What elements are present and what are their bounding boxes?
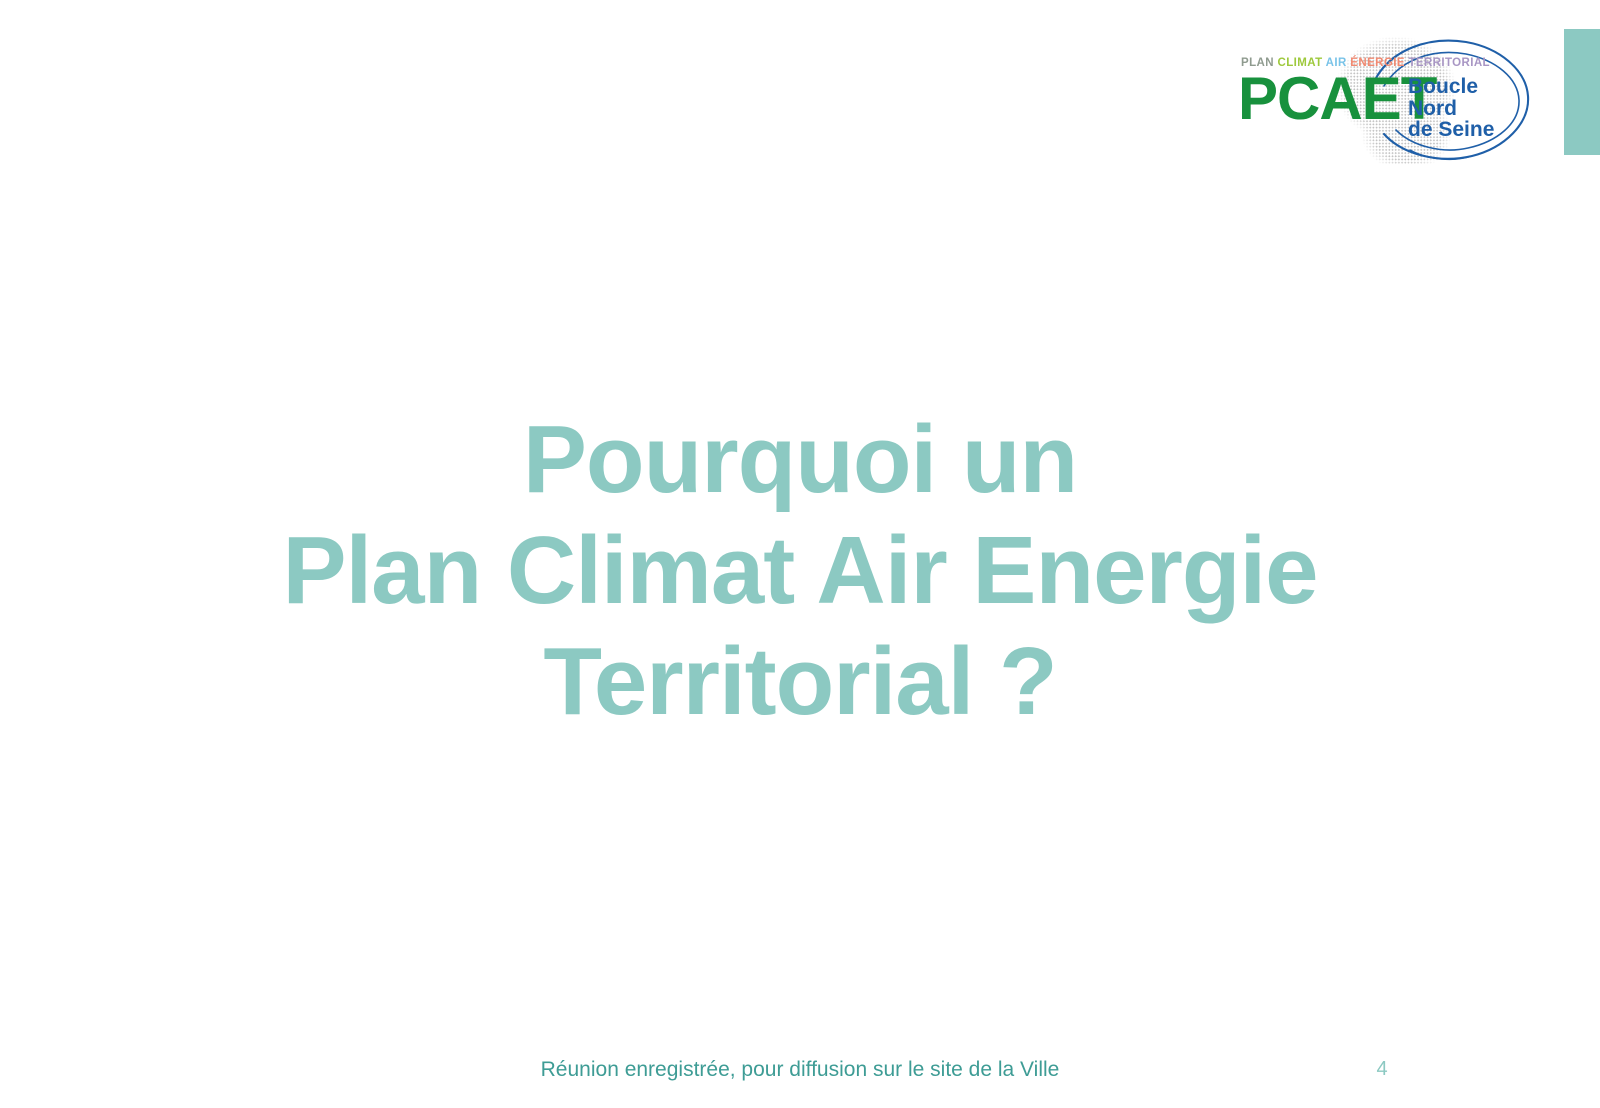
page-number: 4: [1352, 1058, 1412, 1081]
accent-bar: [1564, 29, 1600, 155]
slide-canvas: PLAN CLIMAT AIR ÉNERGIE TERRITORIAL PCAE…: [0, 0, 1600, 1108]
logo-partner-line-3: de Seine: [1408, 119, 1494, 141]
title-line-1: Pourquoi un: [0, 404, 1600, 515]
logo-partner-line-1: Boucle: [1408, 76, 1494, 98]
logo-block: PLAN CLIMAT AIR ÉNERGIE TERRITORIAL PCAE…: [1228, 24, 1538, 164]
logo-partner-name: Boucle Nord de Seine: [1408, 76, 1494, 141]
logo-acronym: PCAET: [1238, 69, 1436, 129]
logo-partner-line-2: Nord: [1408, 98, 1494, 120]
title-line-2: Plan Climat Air Energie: [0, 515, 1600, 626]
title-line-3: Territorial ?: [0, 626, 1600, 737]
slide-title: Pourquoi un Plan Climat Air Energie Terr…: [0, 404, 1600, 737]
